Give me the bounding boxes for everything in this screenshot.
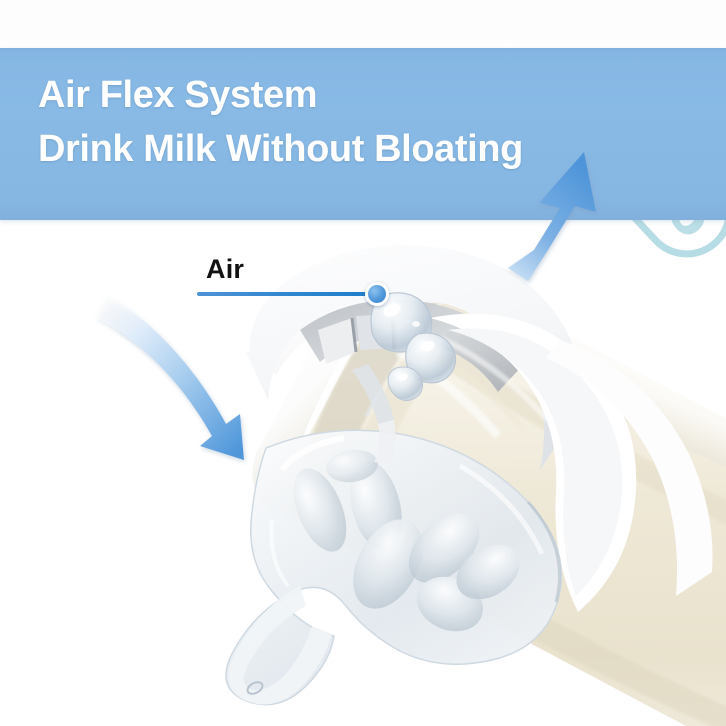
air-callout-dot [365, 282, 389, 306]
headline-line-1: Air Flex System [38, 68, 638, 122]
headline-line-2: Drink Milk Without Bloating [38, 122, 638, 176]
product-feature-image: osjo Air Flex System Drink Milk Without … [0, 0, 726, 726]
air-callout-line [197, 292, 372, 296]
air-callout-label: Air [206, 254, 244, 285]
headline-text-block: Air Flex System Drink Milk Without Bloat… [38, 68, 638, 176]
headline-banner: Air Flex System Drink Milk Without Bloat… [0, 48, 726, 220]
